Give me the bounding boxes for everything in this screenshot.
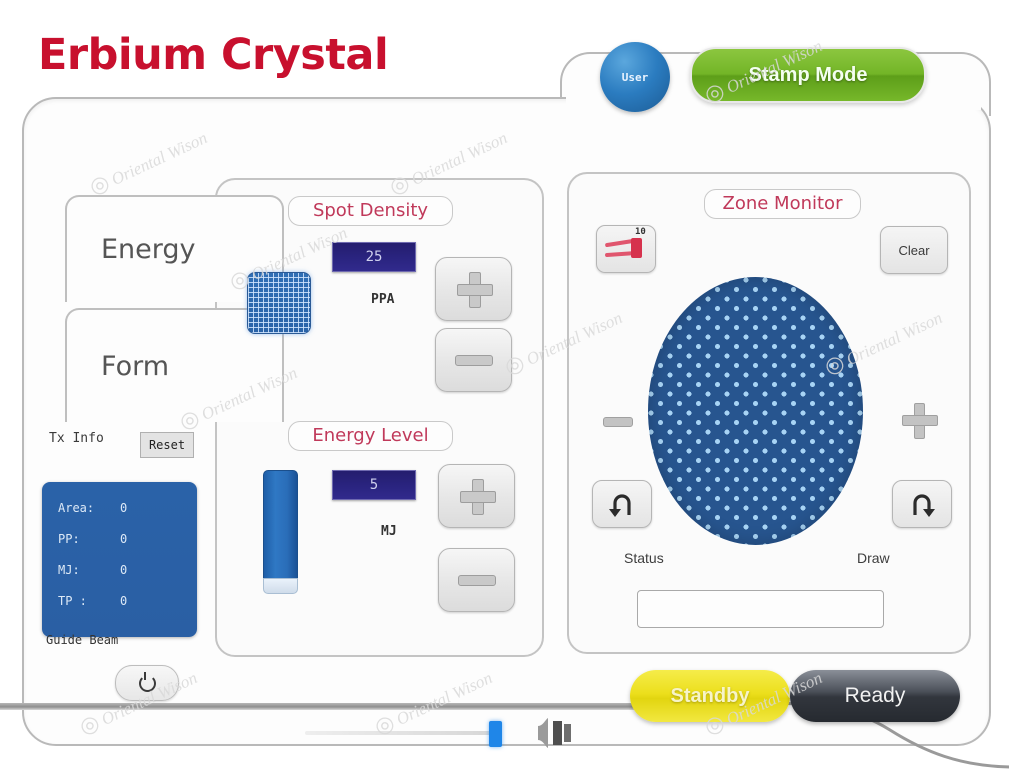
plus-icon (457, 272, 491, 306)
user-badge-label: User (622, 71, 649, 84)
guide-beam-power-button[interactable] (115, 665, 179, 701)
ruler-gauge-value: 10 (635, 227, 646, 237)
standby-button[interactable]: Standby (630, 670, 790, 722)
energy-level-value: 5 (332, 470, 416, 500)
spot-density-value-text: 25 (366, 249, 383, 265)
info-key: Area: (42, 501, 120, 515)
reset-button[interactable]: Reset (140, 432, 194, 458)
info-value: 0 (120, 532, 127, 546)
info-key: PP: (42, 532, 120, 546)
tx-info-label: Tx Info (49, 431, 104, 446)
zone-monitor-circle[interactable] (648, 277, 863, 545)
info-key: TP : (42, 594, 120, 608)
density-grid-icon (247, 272, 311, 334)
reset-button-label: Reset (149, 438, 185, 452)
info-row: TP : 0 (42, 585, 197, 616)
energy-level-value-text: 5 (370, 477, 378, 493)
info-row: PP: 0 (42, 523, 197, 554)
app-root: Erbium Crystal User Stamp Mode Energy Fo… (0, 0, 1009, 775)
tab-energy-label: Energy (101, 234, 196, 265)
status-label: Status (624, 550, 664, 566)
speaker-icon[interactable] (535, 715, 575, 751)
volume-slider-handle[interactable] (489, 721, 502, 747)
user-badge[interactable]: User (600, 42, 670, 112)
rotate-right-icon (907, 490, 937, 518)
stamp-mode-label: Stamp Mode (749, 64, 868, 87)
rotate-right-button[interactable] (892, 480, 952, 528)
spot-density-increase-button[interactable] (435, 257, 512, 321)
ruler-gauge-icon-block (631, 238, 642, 258)
info-row: MJ: 0 (42, 554, 197, 585)
info-value: 0 (120, 594, 127, 608)
minus-icon (455, 355, 493, 366)
ready-button-label: Ready (845, 684, 906, 708)
energy-level-title: Energy Level (288, 421, 453, 451)
power-icon (139, 675, 156, 692)
guide-beam-label: Guide Beam (46, 633, 118, 647)
info-value: 0 (120, 501, 127, 515)
clear-button[interactable]: Clear (880, 226, 948, 274)
spot-density-unit: PPA (371, 292, 394, 307)
stamp-mode-button[interactable]: Stamp Mode (690, 47, 926, 103)
rotate-left-icon (607, 490, 637, 518)
zone-size-decrease-icon[interactable] (603, 417, 633, 427)
status-field[interactable] (637, 590, 884, 628)
clear-button-label: Clear (898, 243, 929, 258)
ready-button[interactable]: Ready (790, 670, 960, 722)
standby-button-label: Standby (671, 685, 750, 708)
page-title: Erbium Crystal (38, 30, 388, 80)
volume-slider-track[interactable] (305, 731, 500, 735)
energy-level-unit: MJ (381, 524, 397, 539)
energy-level-increase-button[interactable] (438, 464, 515, 528)
info-key: MJ: (42, 563, 120, 577)
rotate-left-button[interactable] (592, 480, 652, 528)
zone-monitor-title: Zone Monitor (704, 189, 861, 219)
minus-icon (458, 575, 496, 586)
spot-density-decrease-button[interactable] (435, 328, 512, 392)
zone-size-increase-icon[interactable] (902, 403, 936, 437)
ruler-gauge-button[interactable]: 10 (596, 225, 656, 273)
info-value: 0 (120, 563, 127, 577)
plus-icon (460, 479, 494, 513)
spot-density-value: 25 (332, 242, 416, 272)
spot-density-title: Spot Density (288, 196, 453, 226)
energy-bar-cap (263, 578, 298, 594)
draw-label: Draw (857, 550, 890, 566)
energy-bar-indicator (263, 470, 298, 592)
tx-info-box: Area: 0 PP: 0 MJ: 0 TP : 0 (42, 482, 197, 637)
energy-level-decrease-button[interactable] (438, 548, 515, 612)
tab-form-label: Form (101, 351, 169, 382)
info-row: Area: 0 (42, 492, 197, 523)
